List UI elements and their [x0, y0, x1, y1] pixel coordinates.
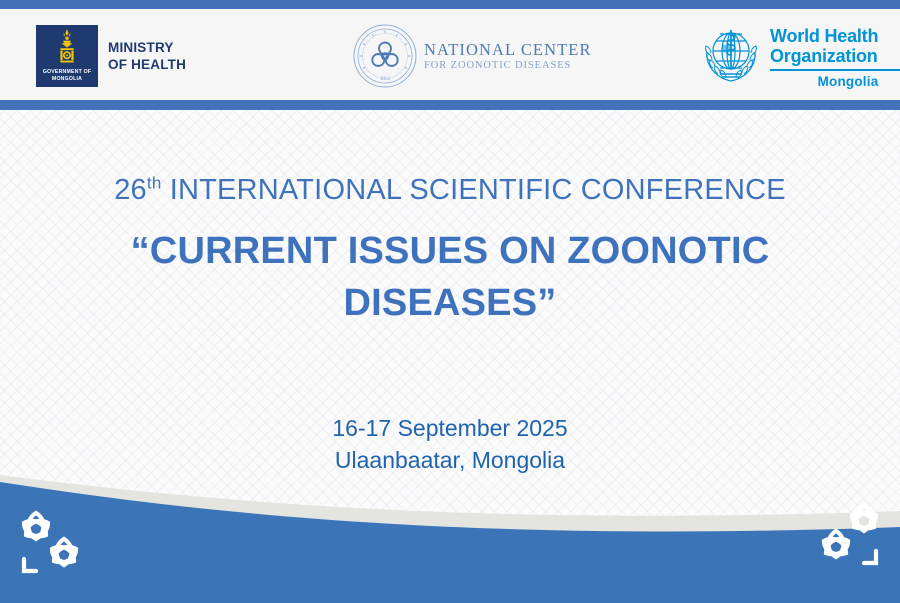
mongolia-state-emblem: GOVERNMENT OF MONGOLIA — [36, 25, 98, 87]
ministry-name-line1: MINISTRY — [108, 39, 186, 56]
title-block: 26th INTERNATIONAL SCIENTIFIC CONFERENCE… — [0, 170, 900, 329]
national-center-logo: 1951 NATIONAL CENTER FOR ZOONOTIC DISEAS… — [352, 23, 592, 89]
soyombo-icon — [52, 28, 82, 73]
bottom-wave-decoration — [0, 463, 900, 603]
ministry-name-line2: OF HEALTH — [108, 56, 186, 73]
emblem-caption-line1: GOVERNMENT OF — [36, 69, 98, 75]
top-accent-bar — [0, 0, 900, 9]
emblem-caption: GOVERNMENT OF MONGOLIA — [36, 69, 98, 82]
header-separator-bar — [0, 100, 900, 110]
biohazard-seal-icon: 1951 — [352, 23, 418, 89]
who-emblem-icon — [700, 24, 762, 86]
event-dates: 16-17 September 2025 — [0, 412, 900, 444]
conference-theme-line2: DISEASES” — [0, 277, 900, 329]
conference-theme-line1: “CURRENT ISSUES ON ZOONOTIC — [0, 225, 900, 277]
conference-heading: 26th INTERNATIONAL SCIENTIFIC CONFERENCE — [0, 170, 900, 210]
conference-theme: “CURRENT ISSUES ON ZOONOTIC DISEASES” — [0, 225, 900, 329]
national-center-name: NATIONAL CENTER FOR ZOONOTIC DISEASES — [424, 40, 592, 72]
national-center-name-line1: NATIONAL CENTER — [424, 40, 592, 59]
emblem-caption-line2: MONGOLIA — [36, 76, 98, 82]
who-name-line1: World Health — [770, 26, 900, 46]
ministry-name: MINISTRY OF HEALTH — [108, 39, 186, 73]
mongolian-ulzii-knot-ornament-right — [802, 497, 886, 573]
who-country-label: Mongolia — [770, 74, 900, 89]
who-wordmark: World Health Organization Mongolia — [770, 24, 900, 89]
who-name-line2: Organization — [770, 46, 900, 66]
who-logo: World Health Organization Mongolia — [700, 24, 900, 89]
national-center-name-line2: FOR ZOONOTIC DISEASES — [424, 59, 592, 72]
conference-ordinal: th — [147, 173, 162, 192]
mongolian-ulzii-knot-ornament-left — [14, 505, 98, 581]
conference-label: INTERNATIONAL SCIENTIFIC CONFERENCE — [170, 174, 786, 206]
ministry-of-health-logo: GOVERNMENT OF MONGOLIA MINISTRY OF HEALT… — [36, 25, 186, 87]
conference-title-slide: GOVERNMENT OF MONGOLIA MINISTRY OF HEALT… — [0, 0, 900, 603]
who-divider-rule — [770, 69, 900, 71]
seal-year-label: 1951 — [380, 76, 391, 82]
logo-row: GOVERNMENT OF MONGOLIA MINISTRY OF HEALT… — [0, 9, 900, 100]
conference-number: 26 — [114, 174, 147, 206]
